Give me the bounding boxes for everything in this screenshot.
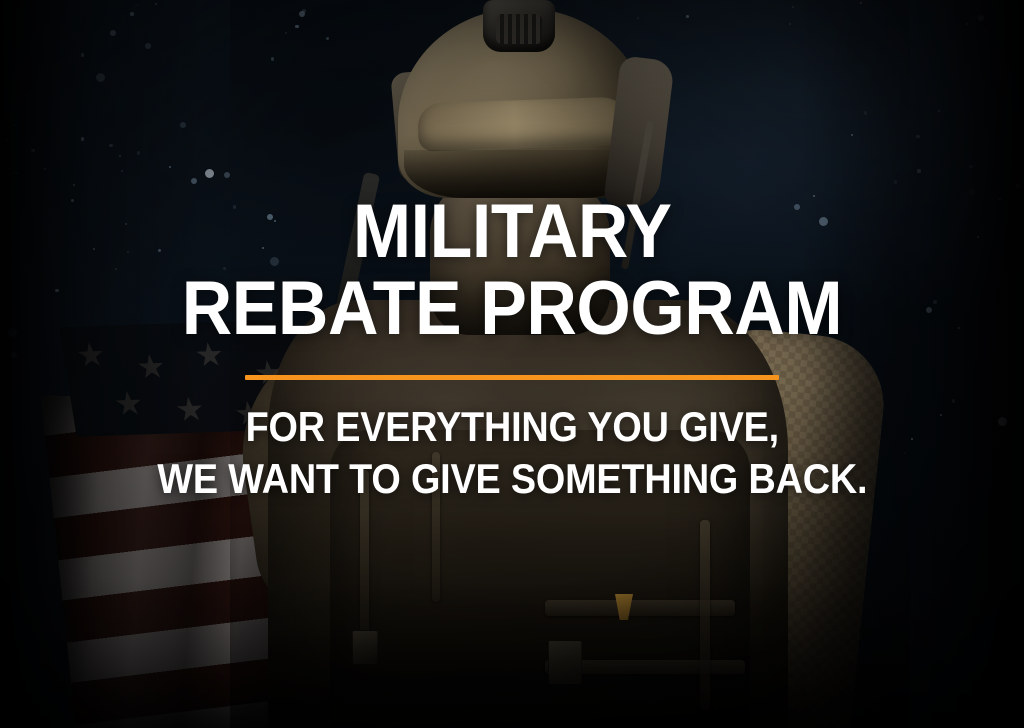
banner-subtitle-line-1: FOR EVERYTHING YOU GIVE,	[245, 404, 778, 450]
banner-subtitle-line-2: WE WANT TO GIVE SOMETHING BACK.	[157, 456, 867, 502]
banner-title-line-2: REBATE PROGRAM	[182, 273, 842, 346]
orange-divider	[245, 375, 779, 380]
military-rebate-banner: MILITARY REBATE PROGRAM FOR EVERYTHING Y…	[0, 0, 1024, 728]
banner-title-line-1: MILITARY	[353, 196, 672, 269]
banner-content: MILITARY REBATE PROGRAM FOR EVERYTHING Y…	[0, 0, 1024, 728]
